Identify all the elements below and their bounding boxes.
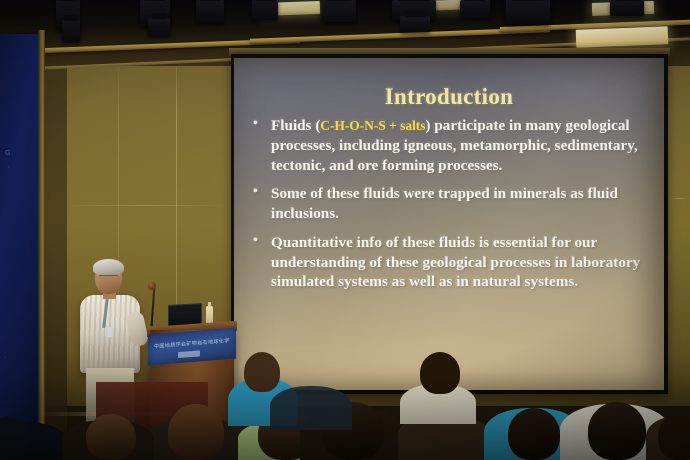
slide-bullet-list: Fluids (C-H-O-N-S + salts) participate i… <box>250 116 654 301</box>
stage-spotlight-icon <box>322 0 356 22</box>
wall-seam-horizontal <box>60 205 230 206</box>
bullet-1-highlight: C-H-O-N-S + salts <box>320 118 425 133</box>
audience-row <box>0 374 690 460</box>
bullet-2-text: Some of these fluids were trapped in min… <box>271 185 618 222</box>
wall-seam-horizontal <box>668 198 690 199</box>
stage-spotlight-icon <box>62 20 80 42</box>
projection-screen-frame: Introduction Fluids (C-H-O-N-S + salts) … <box>231 54 668 394</box>
banner-glyph: · <box>7 164 10 171</box>
stage-spotlight-icon <box>196 0 224 22</box>
slide-bullet-3: Quantitative info of these fluids is ess… <box>250 233 654 292</box>
bullet-3-text: Quantitative info of these fluids is ess… <box>271 234 640 291</box>
audience-person <box>270 386 352 430</box>
presentation-slide: Introduction Fluids (C-H-O-N-S + salts) … <box>234 58 664 390</box>
bullet-1-pre: Fluids ( <box>271 117 320 134</box>
audience-person <box>658 412 690 460</box>
audience-person <box>168 404 224 460</box>
stage-spotlight-icon <box>252 0 278 20</box>
speaker-glasses-icon <box>99 275 118 280</box>
stage-spotlight-icon <box>610 0 644 16</box>
slide-bullet-2: Some of these fluids were trapped in min… <box>250 184 654 224</box>
audience-person <box>86 414 136 460</box>
stage-spotlight-icon <box>400 16 430 32</box>
slide-bullet-1: Fluids (C-H-O-N-S + salts) participate i… <box>250 116 654 175</box>
podium-banner-logo <box>178 350 200 358</box>
stage-spotlight-icon <box>460 0 490 18</box>
banner-glyph: · <box>4 354 7 361</box>
audience-person <box>244 352 280 392</box>
ceiling-panel-light <box>576 26 669 48</box>
audience-person <box>420 352 460 394</box>
audience-person <box>588 402 646 460</box>
slide-title: Introduction <box>234 84 664 110</box>
stage-spotlight-icon <box>506 0 550 24</box>
podium-banner-text: 中国地质学会矿物岩石地球化学 <box>154 337 230 350</box>
microphone-icon <box>148 282 156 290</box>
audience-person <box>508 408 560 460</box>
speaker-badge <box>105 327 113 337</box>
speaker-hair <box>93 259 124 276</box>
lecture-hall-photo: G · · Introduction Fluids (C-H-O-N-S + s… <box>0 0 690 460</box>
banner-glyph: G <box>5 150 11 157</box>
stage-spotlight-icon <box>148 18 170 36</box>
wall-dark-panel <box>45 34 67 432</box>
projection-screen: Introduction Fluids (C-H-O-N-S + salts) … <box>234 58 664 390</box>
